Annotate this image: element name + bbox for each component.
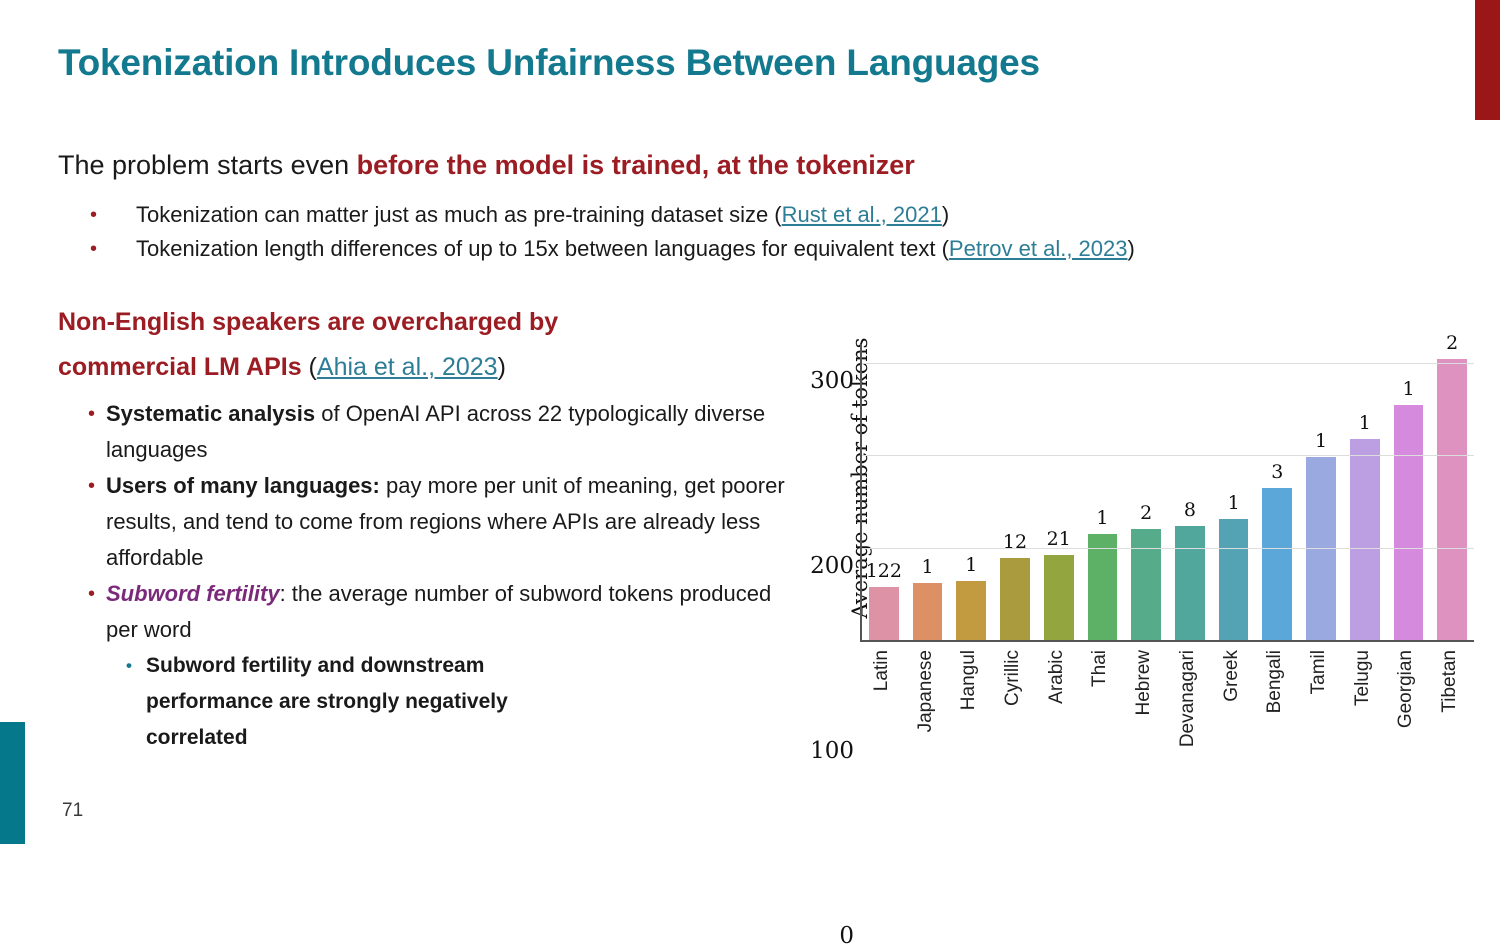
chart-x-tick-slot: Arabic: [1035, 642, 1079, 772]
section-heading-line1: Non-English speakers are overcharged by: [58, 300, 798, 345]
chart-gridline: 200: [862, 455, 1474, 456]
chart-x-tick-label: Latin: [871, 650, 893, 691]
page-number: 71: [62, 800, 83, 822]
left-bullet-list: • Systematic analysis of OpenAI API acro…: [58, 396, 798, 756]
bullet-marker-icon: •: [58, 468, 106, 504]
sub-bullet-marker-icon: •: [58, 648, 146, 684]
chart-bar-value-label: 1: [922, 556, 934, 578]
chart-y-tick-label: 200: [810, 553, 862, 579]
chart-x-tick-label: Tamil: [1308, 650, 1330, 694]
chart-bar[interactable]: [869, 587, 899, 640]
chart-bar-group[interactable]: 2: [1430, 344, 1474, 640]
intro-statement: The problem starts even before the model…: [58, 150, 915, 181]
chart-bar[interactable]: [1044, 555, 1074, 640]
section-heading-line2: commercial LM APIs (Ahia et al., 2023): [58, 345, 798, 390]
chart-bar[interactable]: [1088, 534, 1118, 640]
chart-x-tick-label: Cyrillic: [1002, 650, 1024, 706]
chart-x-tick-label: Telugu: [1352, 650, 1374, 706]
paren-open: (: [302, 353, 317, 381]
chart-bar-group[interactable]: 1: [1212, 344, 1256, 640]
chart-bar[interactable]: [1175, 526, 1205, 640]
chart-bar[interactable]: [1350, 439, 1380, 640]
chart-plot-area: 122111221128131112 0100200300: [860, 344, 1474, 642]
list-item: • Users of many languages: pay more per …: [58, 468, 798, 576]
chart-x-tick-slot: Bengali: [1253, 642, 1297, 772]
chart-x-tick-label: Arabic: [1046, 650, 1068, 704]
chart-bar-group[interactable]: 21: [1037, 344, 1081, 640]
chart-bars-container: 122111221128131112: [862, 344, 1474, 640]
section-heading: Non-English speakers are overcharged by …: [58, 300, 798, 390]
chart-x-tick-slot: Greek: [1210, 642, 1254, 772]
chart-bar[interactable]: [956, 581, 986, 640]
chart-bar[interactable]: [1131, 529, 1161, 640]
citation-link-ahia-2023[interactable]: Ahia et al., 2023: [317, 353, 498, 381]
bullet-marker-icon: •: [58, 576, 106, 612]
bullet-marker-icon: •: [80, 232, 136, 266]
chart-bar-value-label: 1: [965, 554, 977, 576]
chart-x-tick-label: Tibetan: [1439, 650, 1461, 713]
chart-x-tick-slot: Devanagari: [1166, 642, 1210, 772]
chart-bar-group[interactable]: 122: [862, 344, 906, 640]
chart-x-tick-slot: Latin: [860, 642, 904, 772]
chart-x-tick-label: Hangul: [958, 650, 980, 710]
intro-emphasis-text: before the model is trained, at the toke…: [357, 150, 915, 180]
chart-bar-value-label: 1: [1315, 430, 1327, 452]
chart-bar-value-label: 1: [1402, 378, 1414, 400]
chart-x-tick-label: Hebrew: [1133, 650, 1155, 715]
chart-x-tick-label: Devanagari: [1177, 650, 1199, 747]
chart-y-tick-label: 300: [810, 368, 862, 394]
chart-bar-group[interactable]: 1: [1343, 344, 1387, 640]
list-item-bold-lead: Systematic analysis: [106, 401, 315, 426]
list-item-text: Subword fertility: the average number of…: [106, 576, 798, 648]
chart-x-tick-slot: Thai: [1079, 642, 1123, 772]
chart-bar-value-label: 1: [1359, 412, 1371, 434]
chart-x-tick-slot: Japanese: [904, 642, 948, 772]
chart-bar-group[interactable]: 1: [906, 344, 950, 640]
list-item-text: Tokenization can matter just as much as …: [136, 198, 949, 232]
chart-bar-group[interactable]: 1: [1387, 344, 1431, 640]
chart-bar-group[interactable]: 1: [949, 344, 993, 640]
chart-x-tick-slot: Tamil: [1297, 642, 1341, 772]
chart-bar[interactable]: [1000, 558, 1030, 640]
chart-gridline: 100: [862, 548, 1474, 549]
bottom-left-teal-accent-bar: [0, 722, 25, 844]
chart-bar-group[interactable]: 1: [1081, 344, 1125, 640]
list-item-text: Users of many languages: pay more per un…: [106, 468, 798, 576]
paren-close: ): [498, 353, 506, 381]
list-item-text: Tokenization length differences of up to…: [136, 232, 1135, 266]
chart-x-tick-slot: Telugu: [1341, 642, 1385, 772]
chart-bar-value-label: 1: [1096, 507, 1108, 529]
chart-bar-group[interactable]: 12: [993, 344, 1037, 640]
chart-bar-value-label: 8: [1184, 499, 1196, 521]
chart-x-tick-slot: Georgian: [1385, 642, 1429, 772]
sub-list-item-text: Subword fertility and downstream perform…: [146, 648, 566, 756]
chart-bar-value-label: 2: [1446, 332, 1458, 354]
list-item: • Subword fertility: the average number …: [58, 576, 798, 648]
chart-x-tick-slot: Hebrew: [1122, 642, 1166, 772]
page-title: Tokenization Introduces Unfairness Betwe…: [58, 42, 1040, 84]
list-item: • Systematic analysis of OpenAI API acro…: [58, 396, 798, 468]
chart-bar-group[interactable]: 8: [1168, 344, 1212, 640]
list-item: • Tokenization length differences of up …: [80, 232, 1480, 266]
bullet-marker-icon: •: [58, 396, 106, 432]
chart-x-tick-label: Greek: [1221, 650, 1243, 702]
chart-bar[interactable]: [1437, 359, 1467, 640]
list-item-bold-lead: Users of many languages:: [106, 473, 380, 498]
bar-chart: Average number of tokens 122111221128131…: [806, 336, 1476, 736]
sub-list-item: • Subword fertility and downstream perfo…: [58, 648, 798, 756]
chart-bar[interactable]: [1219, 519, 1249, 640]
chart-bar-value-label: 3: [1271, 461, 1283, 483]
chart-y-tick-label: 0: [839, 923, 862, 949]
chart-x-tick-label: Bengali: [1264, 650, 1286, 713]
chart-bar-group[interactable]: 3: [1255, 344, 1299, 640]
chart-bar[interactable]: [1262, 488, 1292, 640]
chart-x-axis-ticks: LatinJapaneseHangulCyrillicArabicThaiHeb…: [860, 642, 1472, 772]
chart-bar-value-label: 2: [1140, 502, 1152, 524]
top-right-red-accent-bar: [1475, 0, 1500, 120]
term-subword-fertility: Subword fertility: [106, 581, 280, 606]
left-content-column: Non-English speakers are overcharged by …: [58, 300, 798, 756]
chart-bar[interactable]: [913, 583, 943, 640]
chart-y-tick-label: 100: [810, 738, 862, 764]
top-bullet-list: • Tokenization can matter just as much a…: [80, 198, 1480, 266]
chart-bar-value-label: 122: [866, 560, 902, 582]
list-item-text-pre: Tokenization length differences of up to…: [136, 236, 949, 261]
chart-x-tick-label: Japanese: [915, 650, 937, 732]
chart-gridline: 300: [862, 363, 1474, 364]
chart-x-tick-label: Thai: [1089, 650, 1111, 687]
chart-bar-value-label: 12: [1003, 531, 1027, 553]
chart-bar-value-label: 1: [1228, 492, 1240, 514]
chart-bar-group[interactable]: 1: [1299, 344, 1343, 640]
list-item-text-post: ): [1127, 236, 1134, 261]
section-heading-line2-text: commercial LM APIs: [58, 353, 302, 381]
list-item: • Tokenization can matter just as much a…: [80, 198, 1480, 232]
bullet-marker-icon: •: [80, 198, 136, 232]
list-item-text-pre: Tokenization can matter just as much as …: [136, 202, 782, 227]
citation-link-rust-2021[interactable]: Rust et al., 2021: [782, 202, 942, 227]
list-item-text: Systematic analysis of OpenAI API across…: [106, 396, 798, 468]
chart-bar[interactable]: [1394, 405, 1424, 640]
intro-plain-text: The problem starts even: [58, 150, 357, 180]
chart-x-tick-slot: Tibetan: [1428, 642, 1472, 772]
list-item-text-post: ): [942, 202, 949, 227]
chart-x-tick-slot: Cyrillic: [991, 642, 1035, 772]
chart-gridline: 0: [862, 640, 1474, 641]
chart-bar-group[interactable]: 2: [1124, 344, 1168, 640]
citation-link-petrov-2023[interactable]: Petrov et al., 2023: [949, 236, 1128, 261]
chart-x-tick-slot: Hangul: [947, 642, 991, 772]
chart-x-tick-label: Georgian: [1395, 650, 1417, 728]
